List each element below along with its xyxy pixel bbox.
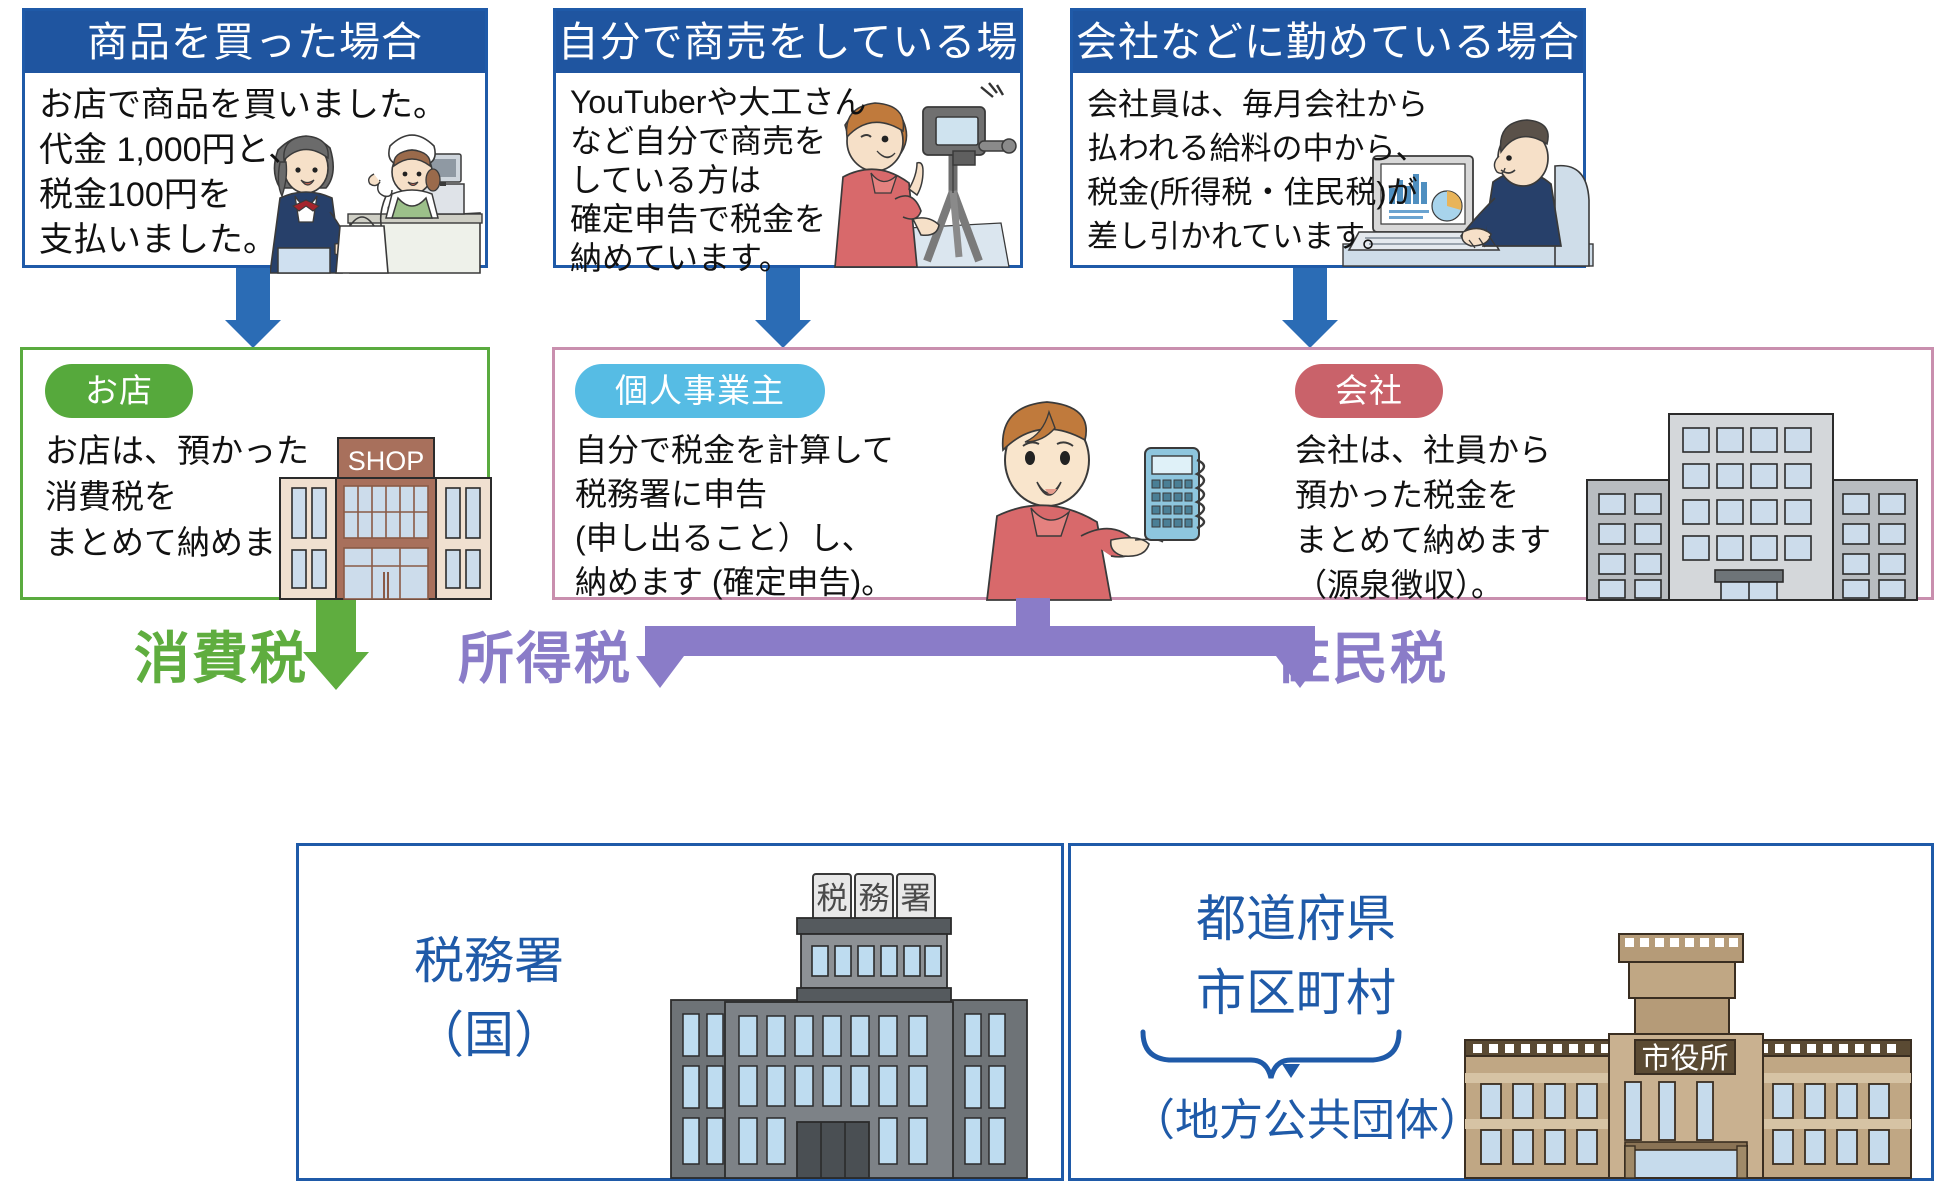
pill-sole-proprietor: 個人事業主 <box>575 364 825 418</box>
city-hall-building-illustration: 市役所 <box>1463 932 1913 1180</box>
office-buildings-illustration <box>1585 412 1920 602</box>
shop-building-illustration: SHOP <box>278 436 493 601</box>
case-title-employee: 会社などに勤めている場合 <box>1073 11 1583 73</box>
shop-sign-text: SHOP <box>348 446 425 476</box>
case-title-self-employed: 自分で商売をしている場合 <box>556 11 1020 73</box>
tax-office-sign-char-1: 税 <box>817 881 848 916</box>
case-panel-employee: 会社などに勤めている場合 会社員は、毎月会社から 払われる給料の中から、 税金(… <box>1070 8 1586 268</box>
mid-box-shop: お店 お店は、預かった 消費税を まとめて納めます。 SHOP <box>20 347 490 600</box>
city-hall-sign-text: 市役所 <box>1641 1042 1728 1075</box>
pill-shop: お店 <box>45 364 193 418</box>
bottom-box-tax-office: 税務署 （国） 税 務 署 <box>296 843 1064 1181</box>
bottom-title-tax-office: 税務署 （国） <box>349 924 629 1072</box>
bottom-subtitle-local-government: （地方公共団体） <box>1131 1090 1461 1152</box>
local-gov-title-group: 都道府県 市区町村 （地方公共団体） <box>1131 882 1461 1152</box>
tax-flow-diagram: 商品を買った場合 お店で商品を買いました。 代金 1,000円と、 税金100円… <box>0 0 1942 1188</box>
person-with-calculator-illustration <box>985 390 1215 600</box>
blue-arrow-self-employed-to-sole-proprietor <box>755 268 811 348</box>
case-body-purchase: お店で商品を買いました。 代金 1,000円と、 税金100円を 支払いました。 <box>39 83 485 263</box>
case-panel-purchase: 商品を買った場合 お店で商品を買いました。 代金 1,000円と、 税金100円… <box>22 8 488 268</box>
tax-office-building-illustration: 税 務 署 <box>669 870 1029 1180</box>
bottom-box-local-government: 都道府県 市区町村 （地方公共団体） <box>1068 843 1934 1181</box>
mid-body-sole-proprietor: 自分で税金を計算して 税務署に申告 (申し出ること）し、 納めます (確定申告)… <box>575 428 995 604</box>
pill-company: 会社 <box>1295 364 1443 418</box>
case-body-employee: 会社員は、毎月会社から 払われる給料の中から、 税金(所得税・住民税)が 差し引… <box>1087 83 1583 259</box>
bottom-title-local-government: 都道府県 市区町村 <box>1131 882 1461 1030</box>
purple-arrow-income-and-resident-tax <box>620 598 1340 688</box>
case-panel-self-employed: 自分で商売をしている場合 YouTuberや大工さん など自分で商売を している… <box>553 8 1023 268</box>
tax-office-sign-char-3: 署 <box>901 881 932 916</box>
mid-box-pink: 個人事業主 自分で税金を計算して 税務署に申告 (申し出ること）し、 納めます … <box>552 347 1934 600</box>
tax-label-consumption: 消費税 <box>134 614 308 695</box>
blue-arrow-employee-to-company <box>1282 268 1338 348</box>
green-arrow-consumption-tax <box>303 600 369 690</box>
tax-office-sign-char-2: 務 <box>859 881 890 916</box>
mid-section-sole-proprietor: 個人事業主 自分で税金を計算して 税務署に申告 (申し出ること）し、 納めます … <box>575 364 995 604</box>
case-body-self-employed: YouTuberや大工さん など自分で商売を している方は 確定申告で税金を 納… <box>570 83 1020 278</box>
blue-arrow-purchase-to-shop <box>225 268 281 348</box>
curly-brace-icon <box>1131 1030 1461 1094</box>
tax-label-income: 所得税 <box>458 614 632 695</box>
case-title-purchase: 商品を買った場合 <box>25 11 485 73</box>
